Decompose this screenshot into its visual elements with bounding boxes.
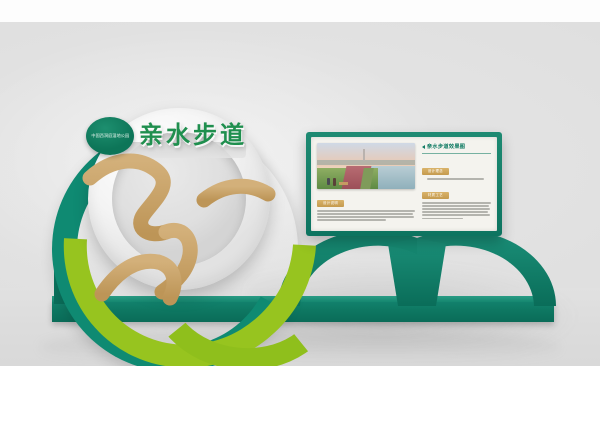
photo-skyline xyxy=(317,160,415,165)
sign-main-title: 亲水步道 xyxy=(139,115,247,150)
board-left-body xyxy=(317,210,415,221)
rendering-photo xyxy=(317,143,415,189)
monument-sculpture: 中国西洞庭湿地公园 亲水步道 xyxy=(0,22,600,366)
board-right-column: 亲水步道效果图 设计理念 材质工艺 xyxy=(419,137,497,231)
board-right-title: 亲水步道效果图 xyxy=(422,143,491,150)
photo-tower xyxy=(363,149,365,161)
board-right-title-label: 亲水步道效果图 xyxy=(427,143,465,150)
top-white-strip xyxy=(0,0,600,22)
board-right-tab-2: 材质工艺 xyxy=(422,192,449,199)
caret-icon xyxy=(422,145,425,149)
board-left-tab: 设计说明 xyxy=(317,200,344,207)
runner-figure-icon xyxy=(82,142,292,327)
park-badge: 中国西洞庭湿地公园 xyxy=(86,117,134,155)
photo-person-a xyxy=(327,178,330,185)
information-board: 设计说明 亲水步道效果图 设计理念 xyxy=(306,132,502,236)
board-right-rule xyxy=(422,153,491,154)
board-right-tab-1: 设计理念 xyxy=(422,168,449,175)
page-footer: 德天人禾文旅 ® DE TIAN REN HE CULTURE TOURISM … xyxy=(0,366,600,424)
board-right-body-1 xyxy=(422,178,491,180)
photo-person-b xyxy=(333,178,336,186)
park-badge-label: 中国西洞庭湿地公园 xyxy=(91,134,129,139)
photo-bench xyxy=(339,182,348,185)
signage-render-page: 中国西洞庭湿地公园 亲水步道 xyxy=(0,0,600,424)
board-right-body-2 xyxy=(422,202,491,219)
board-left-column: 设计说明 xyxy=(311,137,419,231)
board-panel: 设计说明 亲水步道效果图 设计理念 xyxy=(311,137,497,231)
